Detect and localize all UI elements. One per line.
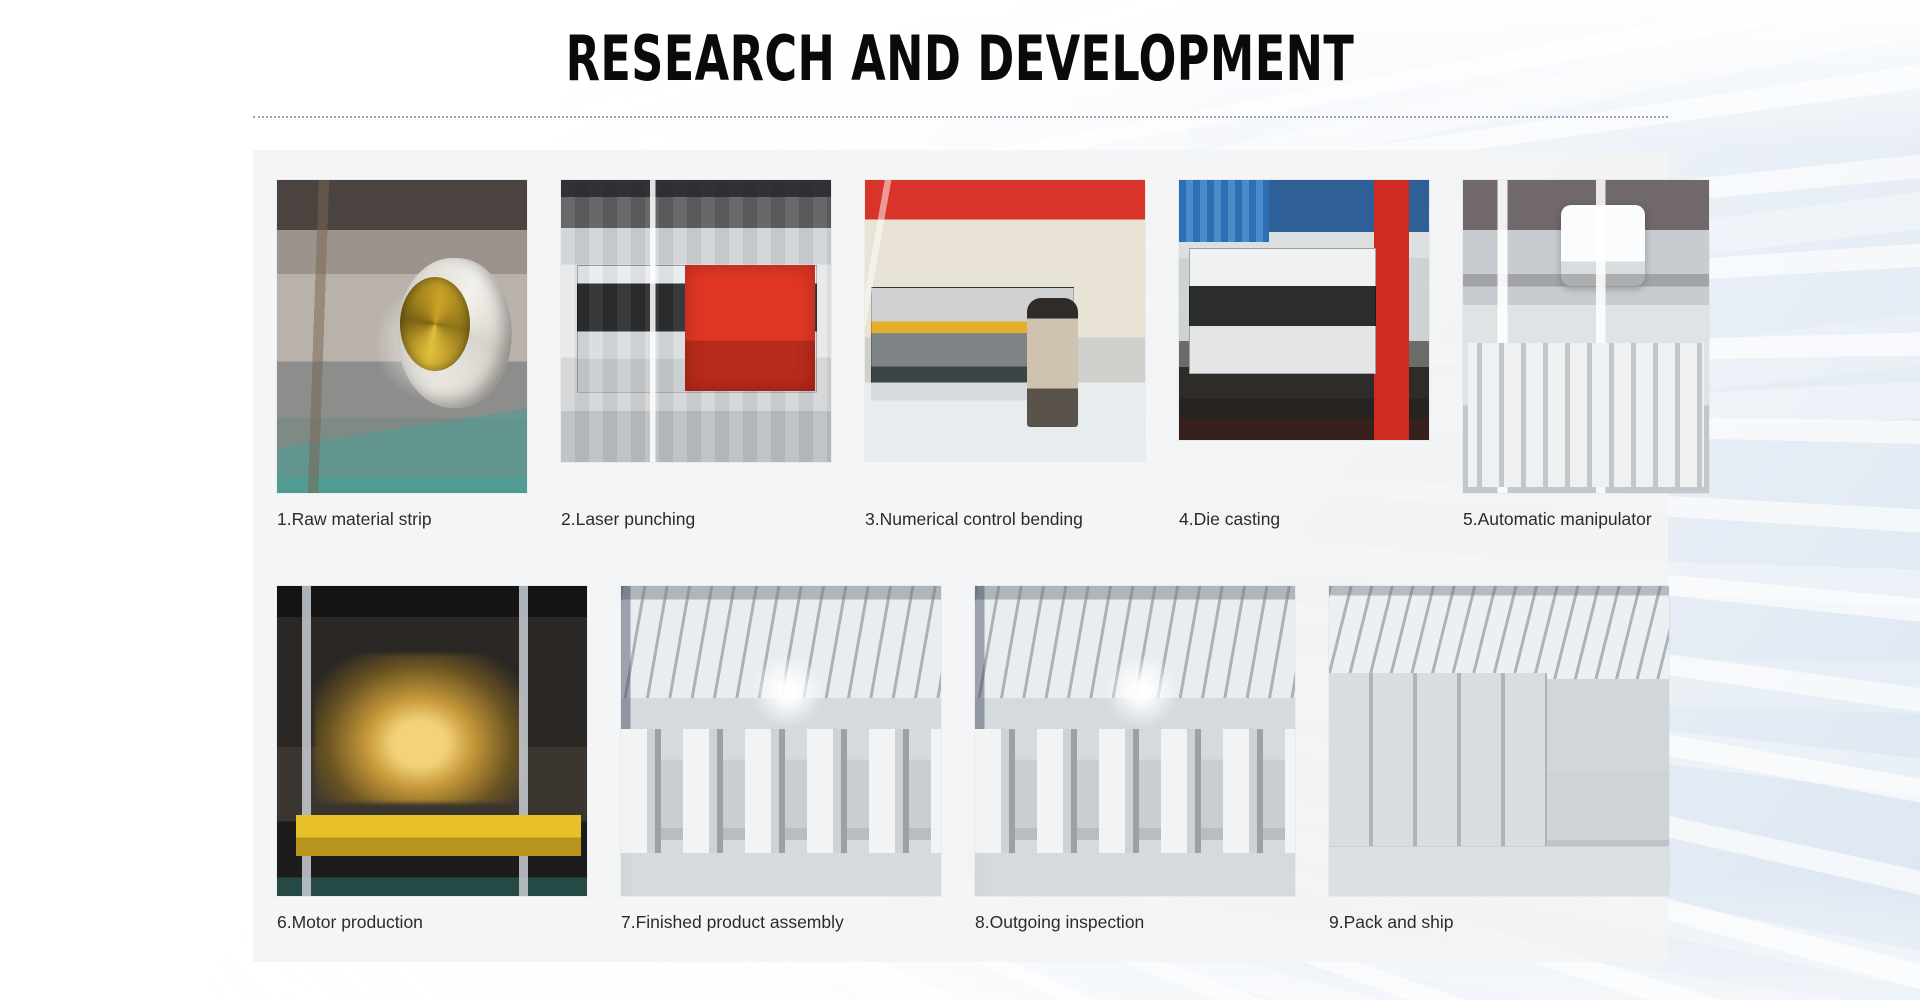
- heading-divider: [253, 116, 1668, 118]
- worker-figure: [1507, 355, 1539, 449]
- process-row-2: 6.Motor production 7.Finished product as…: [277, 586, 1641, 933]
- process-step-9[interactable]: 9.Pack and ship: [1329, 586, 1669, 933]
- process-step-3-caption: 3.Numerical control bending: [865, 509, 1145, 530]
- process-step-8-caption: 8.Outgoing inspection: [975, 912, 1295, 933]
- process-step-4[interactable]: 4.Die casting: [1179, 180, 1429, 530]
- raw-material-strip-image[interactable]: [277, 180, 527, 493]
- laser-punching-image[interactable]: [561, 180, 831, 462]
- page-root: RESEARCH AND DEVELOPMENT 1.Raw material …: [0, 0, 1920, 1000]
- section-heading: RESEARCH AND DEVELOPMENT: [0, 26, 1920, 91]
- die-casting-image[interactable]: [1179, 180, 1429, 440]
- pack-and-ship-image[interactable]: [1329, 586, 1669, 896]
- process-step-6-caption: 6.Motor production: [277, 912, 587, 933]
- motor-production-image[interactable]: [277, 586, 587, 896]
- page-title: RESEARCH AND DEVELOPMENT: [566, 26, 1355, 91]
- process-step-9-caption: 9.Pack and ship: [1329, 912, 1669, 933]
- process-step-1[interactable]: 1.Raw material strip: [277, 180, 527, 530]
- process-step-6[interactable]: 6.Motor production: [277, 586, 587, 933]
- process-step-5[interactable]: 5.Automatic manipulator: [1463, 180, 1709, 530]
- process-step-7-caption: 7.Finished product assembly: [621, 912, 941, 933]
- process-row-1: 1.Raw material strip 2.Laser punching 3.…: [277, 180, 1641, 530]
- process-step-4-caption: 4.Die casting: [1179, 509, 1429, 530]
- process-step-5-caption: 5.Automatic manipulator: [1463, 509, 1709, 530]
- automatic-manipulator-image[interactable]: [1463, 180, 1709, 493]
- finished-product-assembly-image[interactable]: [621, 586, 941, 896]
- process-step-7[interactable]: 7.Finished product assembly: [621, 586, 941, 933]
- process-gallery-panel: 1.Raw material strip 2.Laser punching 3.…: [253, 150, 1668, 962]
- process-step-3[interactable]: 3.Numerical control bending: [865, 180, 1145, 530]
- process-step-8[interactable]: 8.Outgoing inspection: [975, 586, 1295, 933]
- process-step-2-caption: 2.Laser punching: [561, 509, 831, 530]
- outgoing-inspection-image[interactable]: [975, 586, 1295, 896]
- numerical-control-bending-image[interactable]: [865, 180, 1145, 461]
- process-step-1-caption: 1.Raw material strip: [277, 509, 527, 530]
- process-step-2[interactable]: 2.Laser punching: [561, 180, 831, 530]
